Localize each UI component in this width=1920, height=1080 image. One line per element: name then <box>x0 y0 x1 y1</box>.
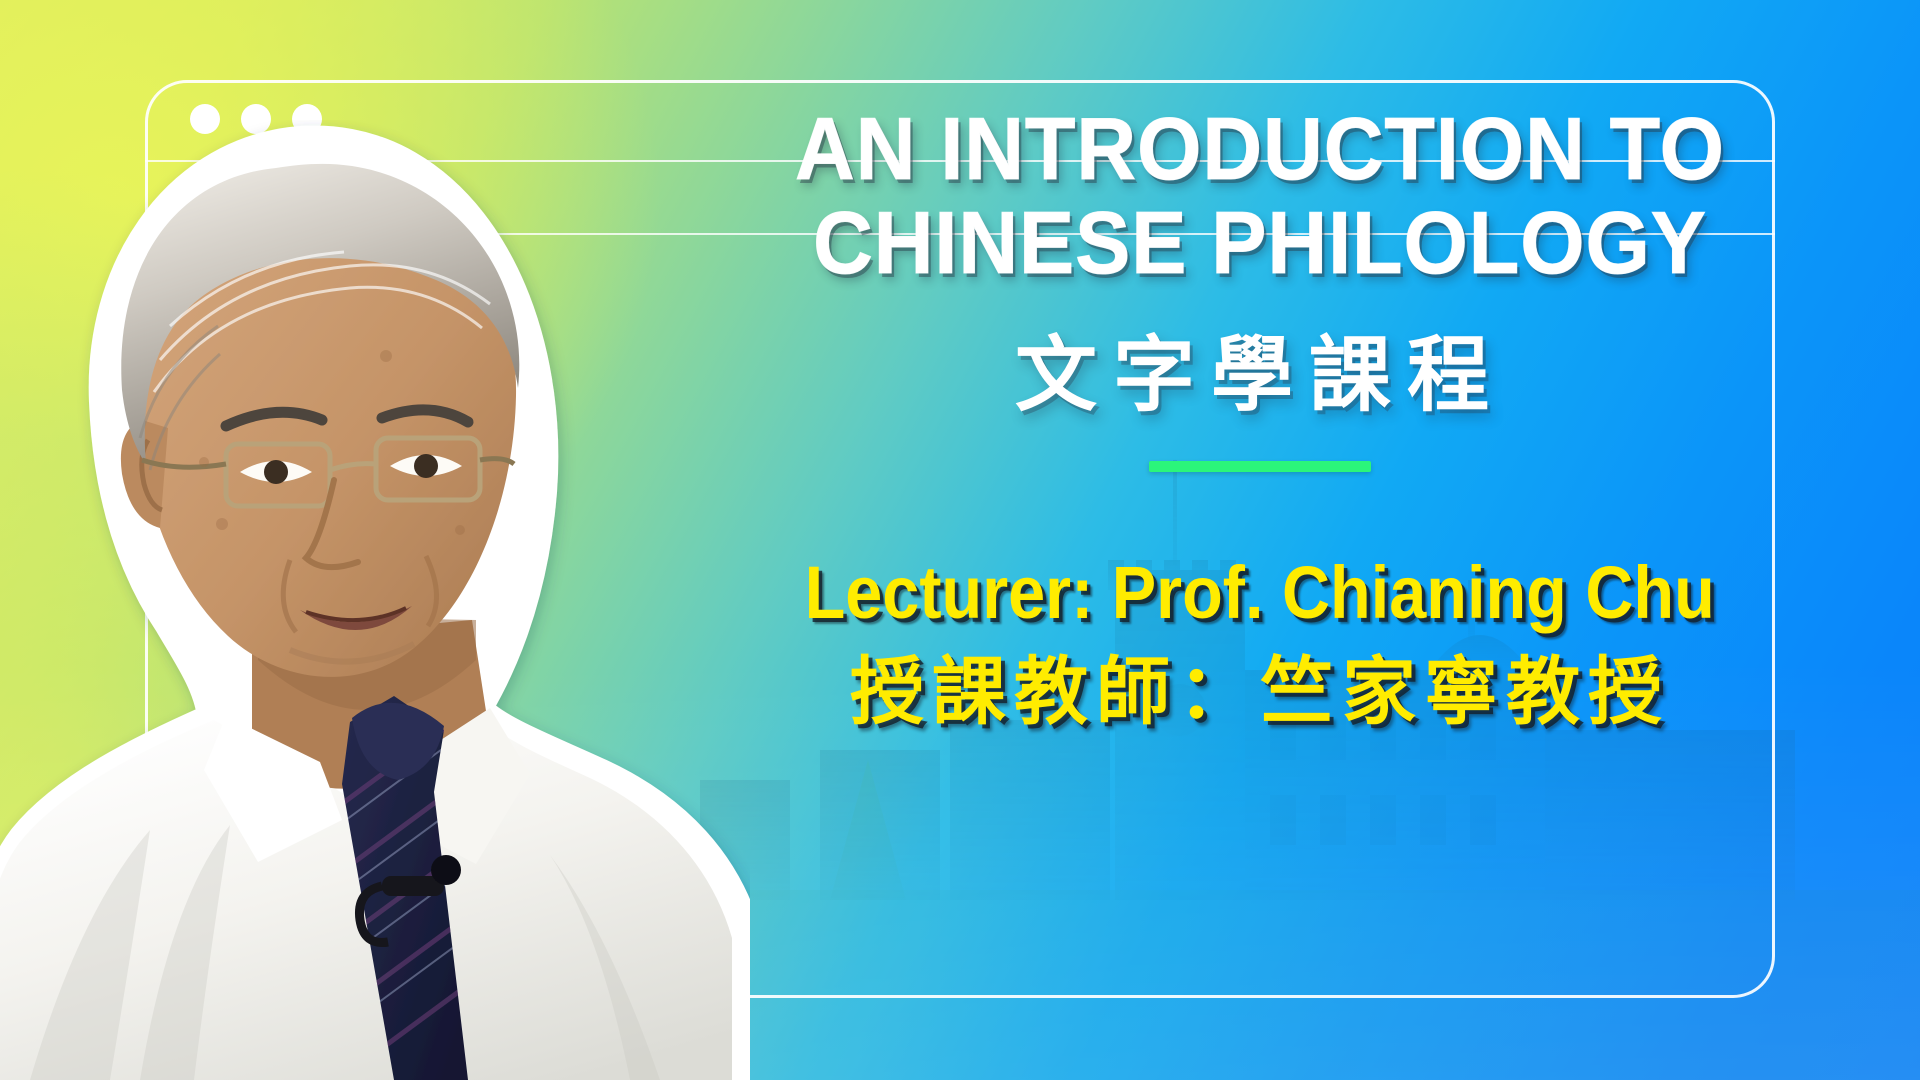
title-card-stage: AN INTRODUCTION TO CHINESE PHILOLOGY 文字學… <box>0 0 1920 1080</box>
lecturer-portrait <box>0 120 750 1080</box>
